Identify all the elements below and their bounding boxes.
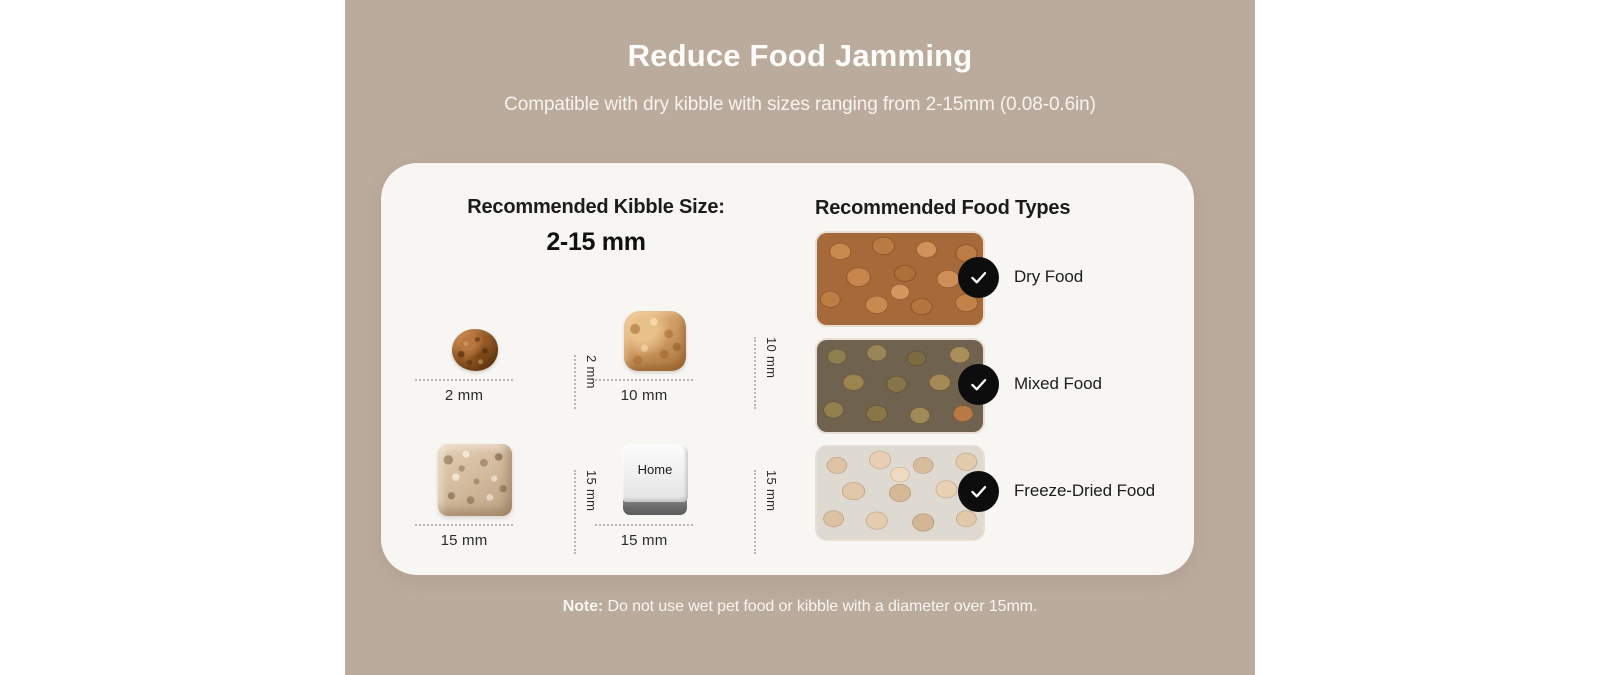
kibble-height-label: 10 mm [764, 337, 779, 409]
specimen-area [411, 420, 539, 522]
keyboard-key-icon: Home [622, 444, 688, 516]
dimension-line-vertical [754, 337, 757, 409]
kibble-size-title: Recommended Kibble Size: [381, 196, 811, 219]
specimen-area [411, 275, 539, 377]
list-item: Mixed Food [815, 338, 1198, 435]
kibble-width-label: 10 mm [591, 387, 697, 404]
specimen-area [591, 275, 719, 377]
kibble-width-label: 15 mm [591, 532, 697, 549]
food-types-title: Recommended Food Types [811, 197, 1194, 220]
dimension-line-horizontal [595, 379, 693, 382]
kibble-sample-grid: 2 mm 2 mm 10 mm 10 mm [403, 275, 803, 565]
dimension-line-vertical [574, 355, 577, 409]
food-type-label: Mixed Food [1014, 338, 1189, 430]
keycap-label: Home [622, 462, 688, 477]
note-text: Do not use wet pet food or kibble with a… [607, 598, 1037, 615]
kibble-sample-15mm-cube: 15 mm 15 mm [411, 420, 601, 560]
check-icon [958, 257, 999, 298]
specimen-area: Home [591, 420, 719, 522]
round-kibble-icon [452, 329, 498, 371]
square-kibble-icon [624, 311, 686, 371]
cube-kibble-icon [438, 444, 512, 516]
food-type-label: Freeze-Dried Food [1014, 445, 1189, 537]
kibble-size-section: Recommended Kibble Size: 2-15 mm 2 mm 2 … [381, 163, 811, 575]
kibble-sample-10mm: 10 mm 10 mm [591, 275, 781, 415]
page-root: Reduce Food Jamming Compatible with dry … [0, 0, 1608, 675]
promo-banner: Reduce Food Jamming Compatible with dry … [345, 0, 1255, 675]
list-item: Freeze-Dried Food [815, 445, 1198, 542]
check-icon [958, 364, 999, 405]
check-icon [958, 471, 999, 512]
dimension-line-horizontal [415, 524, 513, 527]
kibble-sample-15mm-keycap: Home 15 mm 15 mm [591, 420, 781, 560]
food-types-section: Recommended Food Types Dry Food [811, 163, 1194, 575]
info-card: Recommended Kibble Size: 2-15 mm 2 mm 2 … [381, 163, 1194, 575]
kibble-width-label: 15 mm [411, 532, 517, 549]
food-types-list: Dry Food Mixed Food [815, 231, 1198, 552]
footer-note: Note: Do not use wet pet food or kibble … [345, 598, 1255, 616]
food-type-label: Dry Food [1014, 231, 1189, 323]
dimension-line-horizontal [595, 524, 693, 527]
kibble-sample-2mm: 2 mm 2 mm [411, 275, 601, 415]
kibble-width-label: 2 mm [411, 387, 517, 404]
dimension-line-horizontal [415, 379, 513, 382]
note-prefix: Note: [563, 598, 603, 615]
dimension-line-vertical [754, 470, 757, 554]
kibble-height-label: 15 mm [764, 470, 779, 554]
page-title: Reduce Food Jamming [345, 38, 1255, 74]
kibble-size-value: 2-15 mm [381, 228, 811, 257]
list-item: Dry Food [815, 231, 1198, 328]
dimension-line-vertical [574, 470, 577, 554]
page-subtitle: Compatible with dry kibble with sizes ra… [345, 94, 1255, 116]
